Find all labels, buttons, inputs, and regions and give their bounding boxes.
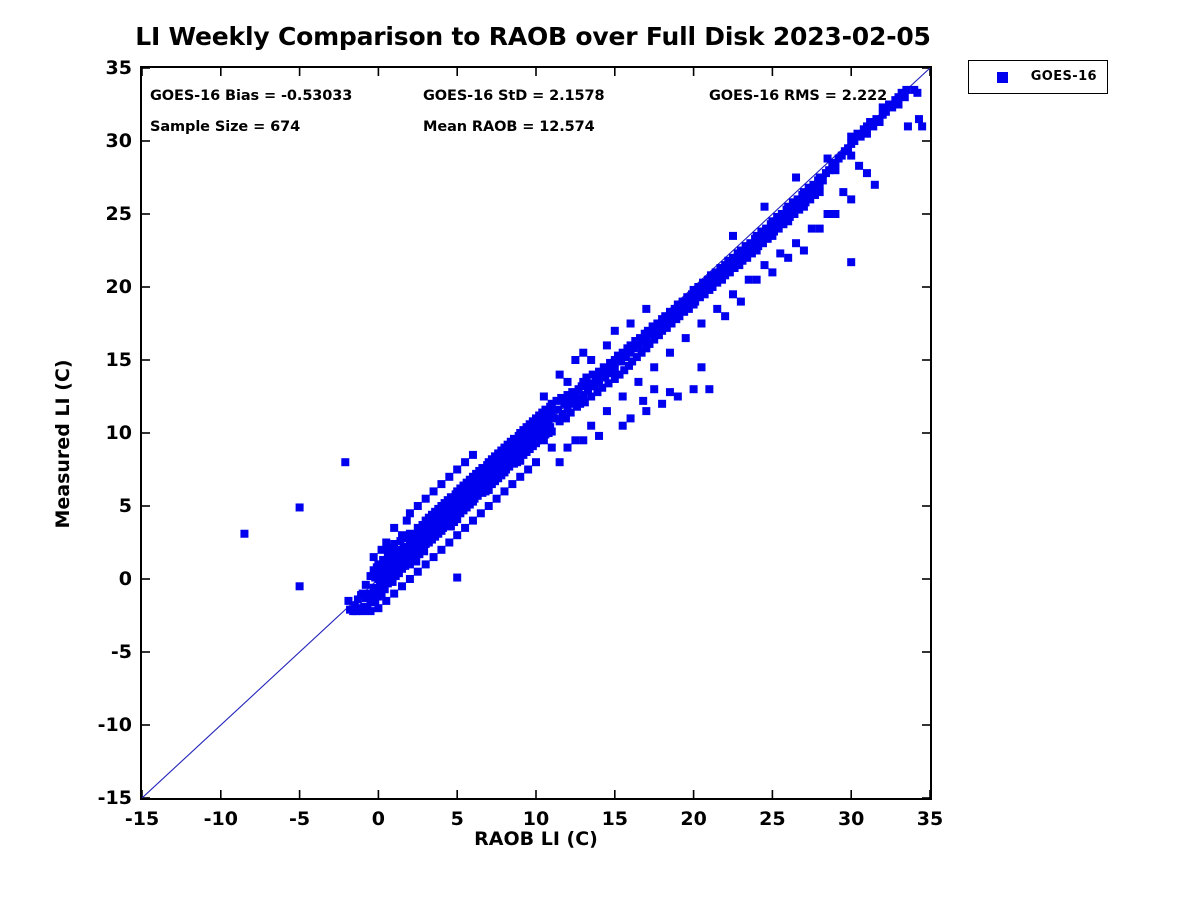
x-tick-label: 5 [451,808,464,830]
data-point [831,166,839,174]
data-point [808,225,816,233]
x-tick-label: 25 [759,808,785,830]
data-point [362,581,370,589]
data-point [469,451,477,459]
data-point [341,458,349,466]
stat-bias: GOES-16 Bias = -0.53033 [150,88,352,104]
data-point [367,607,375,615]
data-point [847,258,855,266]
x-axis-title: RAOB LI (C) [140,828,932,850]
data-point [697,363,705,371]
data-point [761,203,769,211]
data-point [894,101,902,109]
data-point [414,524,422,532]
data-point [603,407,611,415]
data-point [642,407,650,415]
data-point [469,517,477,525]
data-point [453,574,461,582]
x-tick-label: 10 [523,808,549,830]
data-point [915,115,923,123]
data-point [461,524,469,532]
data-point [390,590,398,598]
stat-std: GOES-16 StD = 2.1578 [423,88,604,104]
data-point [564,444,572,452]
data-point [406,509,414,517]
data-point [824,155,832,163]
data-point [445,473,453,481]
x-tick-label: 0 [372,808,385,830]
data-point [650,385,658,393]
x-tick-label: -10 [204,808,238,830]
legend-label-goes16: GOES-16 [1031,69,1097,84]
data-point [658,400,666,408]
data-point [556,371,564,379]
data-point [603,341,611,349]
data-point [816,188,824,196]
data-point [437,546,445,554]
data-point [485,502,493,510]
data-point [721,312,729,320]
data-point [571,436,579,444]
data-point [579,349,587,357]
data-point [902,86,910,94]
y-axis-title: Measured LI (C) [52,334,74,554]
data-point [390,524,398,532]
data-point [824,210,832,218]
data-point [516,473,524,481]
y-tick-label: -5 [111,641,132,663]
data-point [453,466,461,474]
data-point [564,378,572,386]
data-point [477,509,485,517]
data-point [420,547,428,555]
data-point [619,393,627,401]
data-point [713,305,721,313]
page-title: LI Weekly Comparison to RAOB over Full D… [0,22,1066,51]
x-tick-label: -5 [289,808,310,830]
data-point [296,582,304,590]
data-point [729,290,737,298]
data-point [784,254,792,262]
y-tick-label: 10 [106,422,132,444]
data-point [398,531,406,539]
data-point [627,320,635,328]
data-point [453,531,461,539]
y-tick-label: 0 [119,568,132,590]
plot-area [140,66,932,800]
data-point [639,397,647,405]
data-point [674,393,682,401]
data-point [768,268,776,276]
data-point [378,546,386,554]
x-tick-label: 15 [602,808,628,830]
data-point [627,414,635,422]
data-point [753,276,761,284]
data-point [382,539,390,547]
data-point [666,349,674,357]
data-point [595,432,603,440]
x-tick-label: 35 [917,808,943,830]
data-point [430,487,438,495]
data-point [398,582,406,590]
data-point [548,428,556,436]
data-point [901,93,909,101]
data-point [406,575,414,583]
data-point [576,400,584,408]
data-point [847,152,855,160]
data-point [611,327,619,335]
data-point [556,458,564,466]
data-point [548,444,556,452]
chart-page: LI Weekly Comparison to RAOB over Full D… [0,0,1200,900]
data-point [855,162,863,170]
data-point [831,210,839,218]
data-point [800,247,808,255]
data-point [918,122,926,130]
data-point [863,169,871,177]
data-point [445,539,453,547]
stat-mean-raob: Mean RAOB = 12.574 [423,119,595,135]
data-point [403,517,411,525]
y-tick-label: 5 [119,495,132,517]
data-point [737,298,745,306]
data-point [422,560,430,568]
data-point [863,130,871,138]
data-point [666,388,674,396]
data-point [839,188,847,196]
data-point [729,232,737,240]
data-point [437,480,445,488]
x-tick-label: 20 [680,808,706,830]
data-point [508,480,516,488]
data-point [745,276,753,284]
y-tick-label: 35 [106,57,132,79]
y-tick-label: -15 [98,787,132,809]
y-tick-label: 15 [106,349,132,371]
data-point [461,458,469,466]
data-point [682,334,690,342]
scatter-canvas [142,68,930,798]
data-point [792,174,800,182]
data-point [422,495,430,503]
x-tick-label: 30 [838,808,864,830]
y-tick-label: 20 [106,276,132,298]
data-point [493,495,501,503]
data-point [913,89,921,97]
data-point [650,363,658,371]
data-point [697,320,705,328]
data-point [370,553,378,561]
data-point [634,378,642,386]
data-point [847,195,855,203]
x-tick-label: -15 [125,808,159,830]
data-point [296,503,304,511]
legend: GOES-16 [968,60,1108,94]
data-point [642,305,650,313]
data-point [876,118,884,126]
stat-sample-size: Sample Size = 674 [150,119,300,135]
data-point [524,466,532,474]
data-point [382,597,390,605]
y-tick-label: -10 [98,714,132,736]
data-point [816,225,824,233]
y-tick-label: 25 [106,203,132,225]
data-point [412,557,420,565]
data-point [500,487,508,495]
data-point [579,436,587,444]
data-point [904,122,912,130]
data-point [690,385,698,393]
data-point [587,422,595,430]
data-point [619,422,627,430]
data-point [871,181,879,189]
data-point [430,553,438,561]
data-point [532,458,540,466]
data-point [540,436,548,444]
data-point [414,568,422,576]
data-point [540,393,548,401]
data-point [792,239,800,247]
scatter-series-goes-16 [240,86,926,615]
legend-swatch-goes16 [997,72,1008,83]
data-point [705,385,713,393]
data-point [819,176,827,184]
data-point [240,530,248,538]
data-point [761,261,769,269]
data-point [776,249,784,257]
y-tick-label: 30 [106,130,132,152]
data-point [374,604,382,612]
data-point [414,502,422,510]
data-point [587,356,595,364]
data-point [571,356,579,364]
stat-rms: GOES-16 RMS = 2.222 [709,88,887,104]
